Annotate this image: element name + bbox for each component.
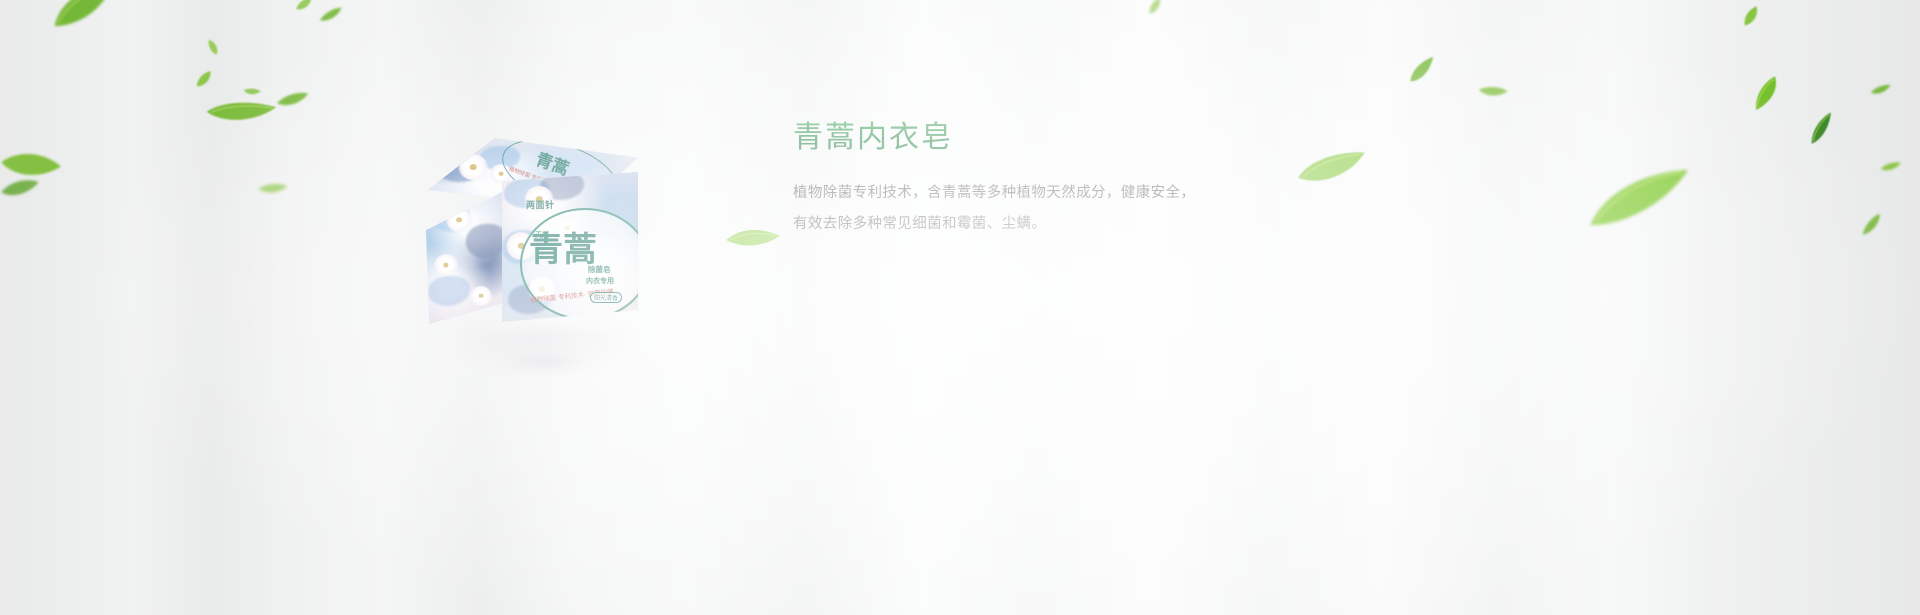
description-line-1: 植物除菌专利技术，含青蒿等多种植物天然成分，健康安全，: [793, 178, 1313, 209]
petal-center: [499, 172, 504, 176]
leaf-icon: [202, 36, 223, 59]
leaf-icon: [44, 0, 121, 32]
floral-petal: [434, 254, 458, 276]
petal-center: [470, 164, 477, 170]
leaf-icon: [258, 181, 289, 197]
leaf-icon: [242, 84, 262, 100]
floral-blue-blob: [466, 224, 506, 258]
petal-center: [443, 263, 448, 268]
description-block: 植物除菌专利技术，含青蒿等多种植物天然成分，健康安全， 有效去除多种常见细菌和霉…: [793, 178, 1313, 240]
petal-center: [479, 294, 484, 298]
leaf-icon: [275, 90, 311, 111]
box-side-face: [426, 190, 506, 324]
product-shadow-core: [500, 352, 590, 372]
leaf-icon: [1580, 163, 1697, 231]
leaf-icon: [1879, 159, 1903, 176]
copy-block: 青蒿内衣皂 植物除菌专利技术，含青蒿等多种植物天然成分，健康安全， 有效去除多种…: [793, 118, 1313, 240]
leaf-icon: [204, 96, 278, 129]
label-product-name: 青蒿: [529, 234, 597, 268]
leaf-icon: [1477, 81, 1510, 103]
label-product-type: 除菌皂: [588, 264, 611, 275]
leaf-icon: [1144, 0, 1166, 18]
leaf-icon: [1403, 52, 1443, 89]
leaf-icon: [1801, 109, 1843, 149]
leaf-icon: [291, 0, 317, 16]
product-image[interactable]: 青蒿 植物除菌 专利技术: [424, 138, 638, 328]
box-front-face: 两面针 天然 青蒿 除菌皂 内衣专用 植物除菌 专利技术· 抑菌抑螨 阳光清香: [502, 172, 638, 322]
leaf-icon: [1855, 209, 1888, 241]
leaf-icon: [1738, 1, 1765, 30]
brand-mark: 两面针: [526, 198, 555, 211]
floral-blue-blob: [428, 276, 470, 306]
floral-petal: [458, 154, 488, 180]
leaf-icon: [1869, 80, 1894, 100]
petal-center: [456, 217, 462, 222]
leaf-icon: [1744, 72, 1789, 113]
leaf-icon: [0, 176, 41, 200]
leaf-icon: [316, 4, 345, 26]
product-banner: 青蒿 植物除菌 专利技术: [0, 0, 1920, 615]
label-product-usage: 内衣专用: [586, 276, 614, 286]
floral-petal: [446, 208, 472, 232]
leaf-icon: [724, 218, 781, 257]
page-title: 青蒿内衣皂: [793, 118, 1313, 158]
floating-leaves-layer: [0, 0, 1920, 615]
label-scent-badge: 阳光清香: [590, 292, 622, 303]
soap-box: 青蒿 植物除菌 专利技术: [424, 138, 638, 328]
leaf-icon: [191, 65, 217, 92]
floral-petal: [470, 286, 492, 306]
description-line-2: 有效去除多种常见细菌和霉菌、尘螨。: [793, 209, 1313, 240]
